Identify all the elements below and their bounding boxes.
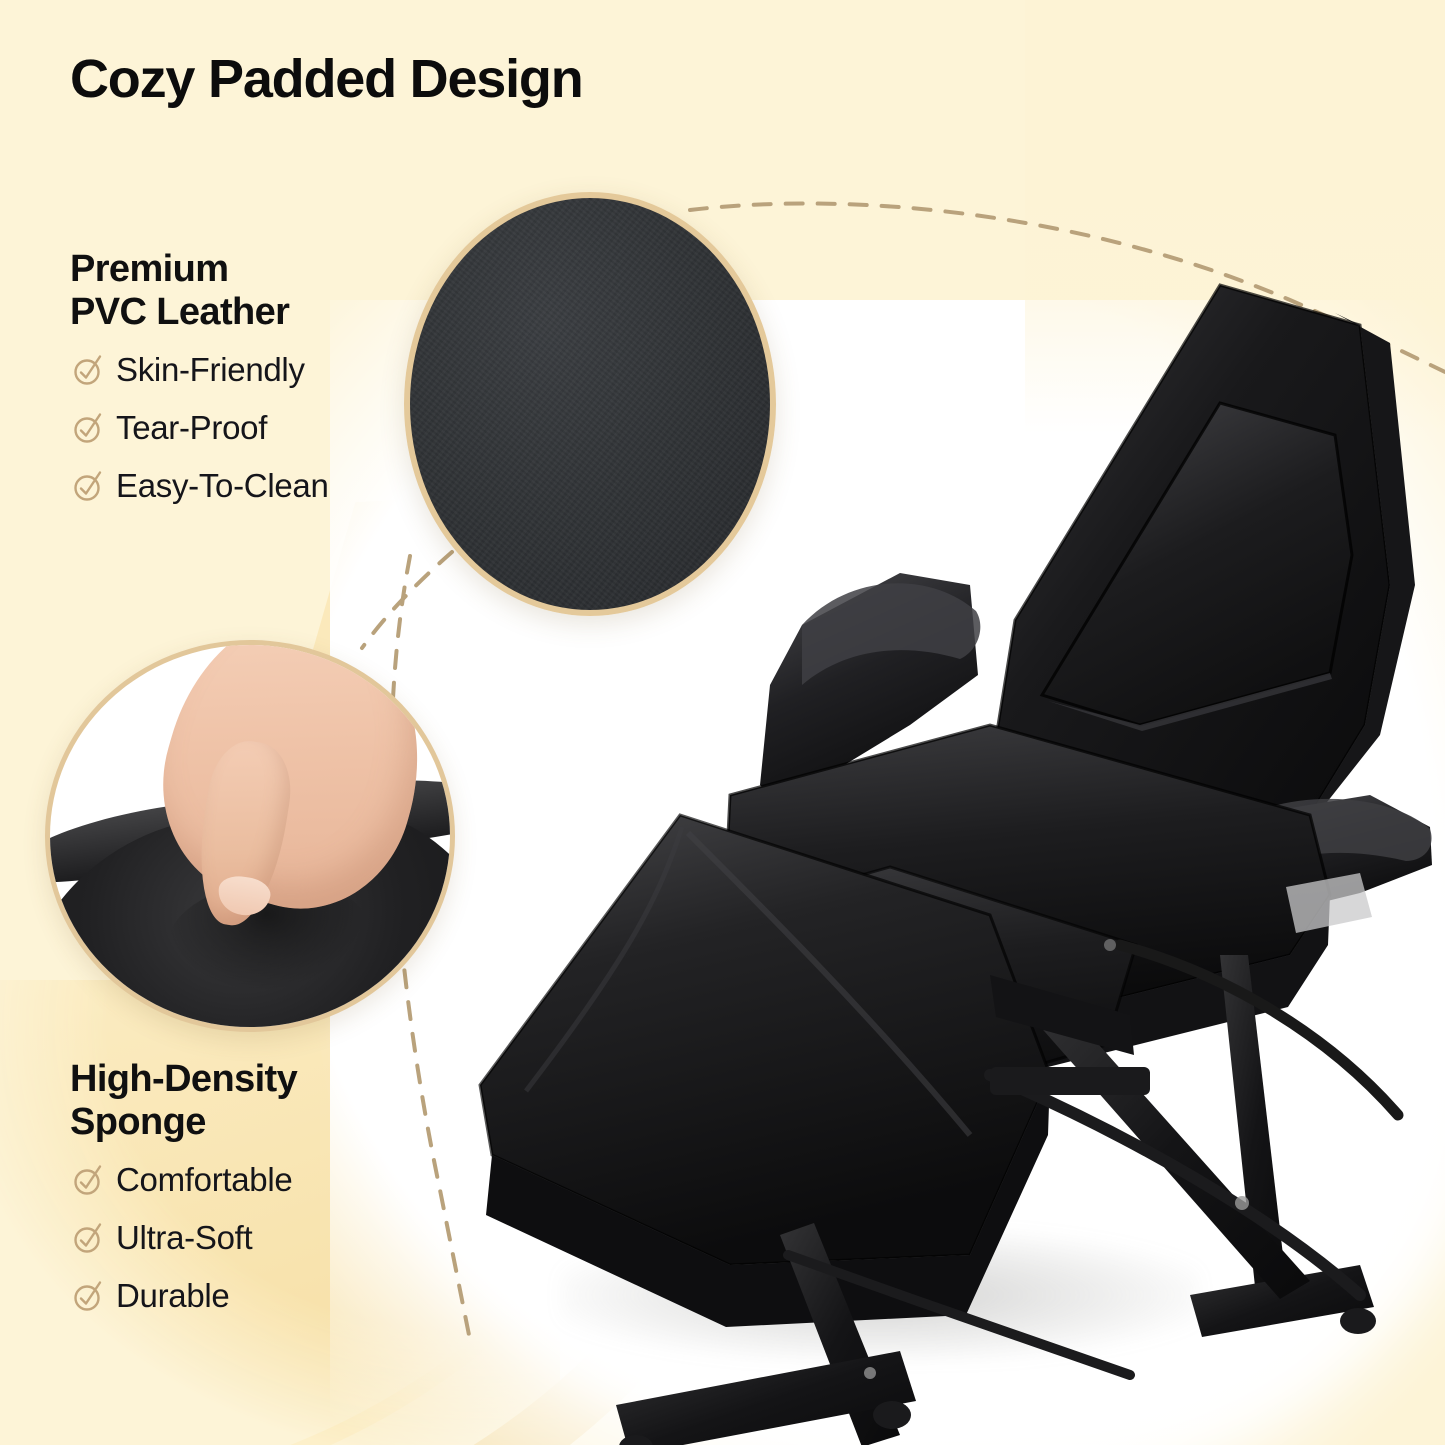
check-circle-icon (70, 1161, 106, 1197)
black-spa-facial-chair (430, 255, 1445, 1445)
adjustable-foot-front (873, 1401, 911, 1429)
check-circle-icon (70, 467, 106, 503)
feature-heading-pvc-leather: Premium PVC Leather (70, 248, 400, 333)
frame-crossbar (990, 1067, 1150, 1095)
feature-heading-high-density-sponge: High-Density Sponge (70, 1058, 410, 1143)
check-circle-icon (70, 409, 106, 445)
check-circle-icon (70, 1277, 106, 1313)
feature-block-high-density-sponge: High-Density Sponge Comfortable Ultra-So… (70, 1058, 410, 1335)
list-item: Ultra-Soft (70, 1219, 410, 1255)
list-item-label: Tear-Proof (116, 411, 267, 444)
infographic-canvas: Cozy Padded Design Premium PVC Leather S… (0, 0, 1445, 1445)
list-item: Easy-To-Clean (70, 467, 400, 503)
adjustable-foot-rear (1340, 1308, 1376, 1334)
bolt (1235, 1196, 1249, 1210)
list-item-label: Comfortable (116, 1163, 292, 1196)
list-item-label: Ultra-Soft (116, 1221, 252, 1254)
list-item: Tear-Proof (70, 409, 400, 445)
bolt (864, 1367, 876, 1379)
check-circle-icon (70, 351, 106, 387)
feature-list-high-density-sponge: Comfortable Ultra-Soft Durable (70, 1161, 410, 1313)
bolt (1104, 939, 1116, 951)
list-item: Durable (70, 1277, 410, 1313)
list-item-label: Easy-To-Clean (116, 469, 329, 502)
page-title: Cozy Padded Design (70, 50, 583, 108)
feature-list-pvc-leather: Skin-Friendly Tear-Proof Easy-To-Clean (70, 351, 400, 503)
chair-graphic (430, 255, 1445, 1445)
hand-pressing-sponge-photo (45, 640, 455, 1032)
check-circle-icon (70, 1219, 106, 1255)
list-item-label: Durable (116, 1279, 229, 1312)
list-item-label: Skin-Friendly (116, 353, 305, 386)
list-item: Comfortable (70, 1161, 410, 1197)
feature-block-pvc-leather: Premium PVC Leather Skin-Friendly Tear-P… (70, 248, 400, 525)
list-item: Skin-Friendly (70, 351, 400, 387)
